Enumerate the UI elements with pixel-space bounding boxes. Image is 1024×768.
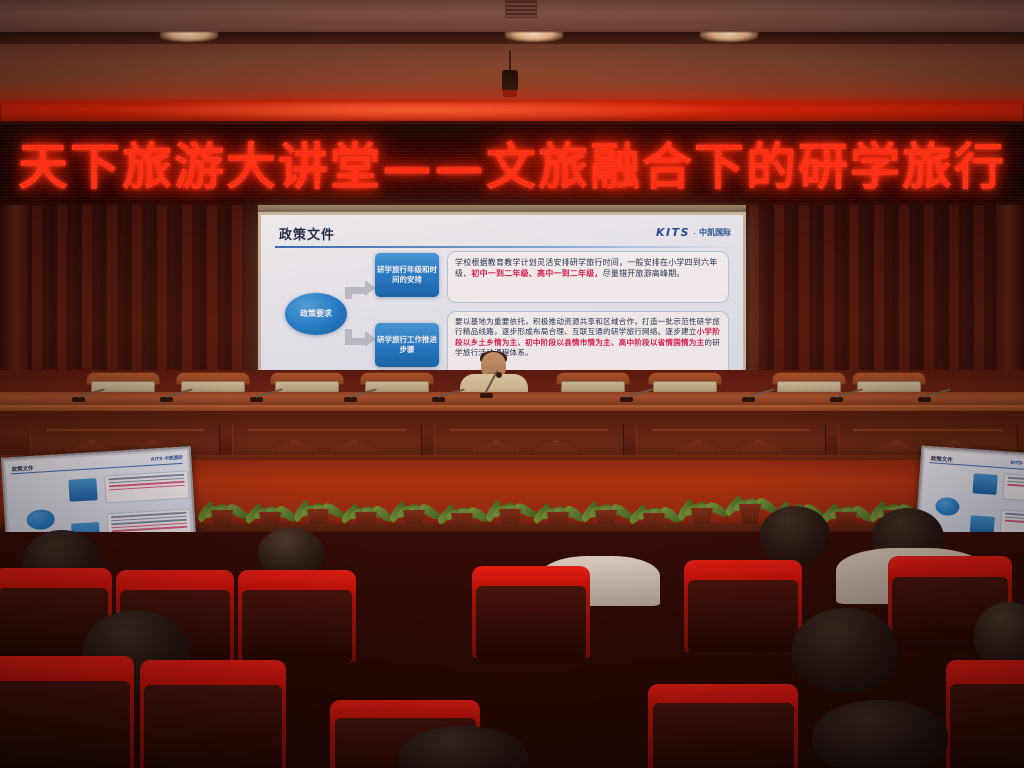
table-microphone	[742, 388, 776, 402]
auditorium-scene: 天下旅游大讲堂——文旅融合下的研学旅行 政策文件 KITS · 中凯国际	[0, 0, 1024, 768]
left-monitor-logo: KITS·中凯国际	[151, 455, 182, 463]
audience-seat[interactable]	[238, 570, 356, 662]
panel-rail	[652, 429, 810, 432]
table-microphone	[830, 388, 864, 402]
slide-title-underline	[275, 246, 735, 248]
audience-head	[258, 528, 324, 576]
slide-logo: KITS · 中凯国际	[656, 226, 731, 239]
text-card-1-plain-b: 尽量错开旅游高峰期。	[603, 269, 685, 278]
seat-back	[144, 685, 281, 768]
logo-company-name: 中凯国际	[699, 227, 731, 238]
potted-plant	[196, 472, 248, 530]
audience-seat[interactable]	[946, 660, 1024, 768]
audience-head	[792, 608, 898, 692]
right-monitor-root-node	[935, 497, 960, 517]
audience-seat[interactable]	[0, 656, 134, 768]
diagram-text-card-1: 学校根据教育教学计划灵活安排研学旅行时间，一般安排在小学四到六年级、初中一到二年…	[447, 251, 729, 303]
potted-plant	[388, 472, 440, 530]
diagram-branch-node-2: 研学旅行工作推进步骤	[375, 323, 439, 367]
led-banner-text: 天下旅游大讲堂——文旅融合下的研学旅行	[17, 127, 1007, 199]
seat-back	[242, 590, 353, 662]
potted-plant	[676, 470, 728, 528]
left-monitor-branch-node	[68, 478, 97, 502]
table-microphone	[250, 388, 284, 402]
table-microphone	[918, 388, 952, 402]
diagram-branch-node-1: 研学旅行年级和时间的安排	[375, 253, 439, 297]
spotlight-base	[503, 90, 517, 97]
mic-gooseneck	[923, 388, 950, 398]
mic-gooseneck	[349, 388, 376, 398]
panel-rail	[450, 429, 608, 432]
right-monitor-branch-node	[972, 473, 997, 495]
mic-gooseneck	[255, 388, 282, 398]
ceiling-downlight	[160, 32, 218, 42]
mic-base	[480, 393, 493, 398]
arrow-to-branch-2	[345, 329, 379, 355]
ceiling-vent-grille	[505, 0, 537, 18]
text-line-highlight	[1005, 520, 1024, 524]
seat-back	[653, 703, 794, 768]
mic-gooseneck	[747, 388, 774, 398]
table-microphone	[344, 388, 378, 402]
diagram-root-node: 政策要求	[285, 293, 347, 335]
arrow-horizontal-segment	[345, 338, 367, 345]
spotlight-stem	[509, 50, 511, 72]
seat-back	[688, 580, 799, 652]
audience-head	[812, 700, 948, 768]
text-card-2-plain-a: 要以基地为重要依托，积极推动资源共享和区域合作，打造一批示范性研学旅行精品线路，…	[455, 317, 720, 336]
seat-back	[0, 681, 130, 768]
slide-title: 政策文件	[279, 224, 335, 243]
potted-plant	[292, 471, 344, 529]
logo-separator: ·	[693, 228, 696, 238]
arrow-to-branch-1	[345, 273, 379, 299]
audience-head	[760, 506, 830, 564]
text-card-1-highlight: 初中一到二年级、高中一到二年级，	[471, 269, 602, 278]
panel-rail	[853, 429, 1003, 432]
potted-plant	[580, 472, 632, 530]
speaker-microphone	[480, 372, 514, 398]
ceiling-downlight	[505, 32, 563, 42]
audience-seat[interactable]	[472, 566, 590, 658]
plant-pot	[737, 504, 763, 524]
ceiling-downlight	[700, 32, 758, 42]
potted-plant	[484, 471, 536, 529]
arrow-horizontal-segment	[345, 287, 367, 294]
slide-header: 政策文件 KITS · 中凯国际	[261, 221, 743, 247]
audience-seat[interactable]	[648, 684, 798, 768]
mic-gooseneck	[165, 388, 192, 398]
table-microphone	[620, 388, 654, 402]
mic-gooseneck	[437, 388, 464, 398]
led-banner: 天下旅游大讲堂——文旅融合下的研学旅行	[0, 121, 1024, 205]
mic-gooseneck	[77, 388, 104, 398]
right-monitor-text-card	[1002, 473, 1024, 502]
panel-rail	[248, 429, 406, 432]
mic-gooseneck	[625, 388, 652, 398]
mic-gooseneck	[835, 388, 862, 398]
logo-kits-mark: KITS	[656, 226, 690, 239]
seat-back	[476, 586, 587, 658]
mic-capsule	[496, 372, 502, 378]
panel-rail	[46, 429, 204, 432]
audience-seat[interactable]	[684, 560, 802, 652]
audience-seat[interactable]	[140, 660, 286, 768]
text-line-highlight	[1007, 484, 1024, 488]
seat-back	[950, 684, 1024, 768]
table-microphone	[72, 388, 106, 402]
left-monitor-root-node	[26, 509, 55, 531]
right-monitor-logo: KITS·中凯国际	[1010, 460, 1024, 468]
table-microphone	[432, 388, 466, 402]
table-microphone	[160, 388, 194, 402]
left-monitor-text-card	[104, 471, 190, 504]
stage-spotlight-fixture	[502, 50, 518, 100]
spotlight-head	[502, 70, 518, 91]
